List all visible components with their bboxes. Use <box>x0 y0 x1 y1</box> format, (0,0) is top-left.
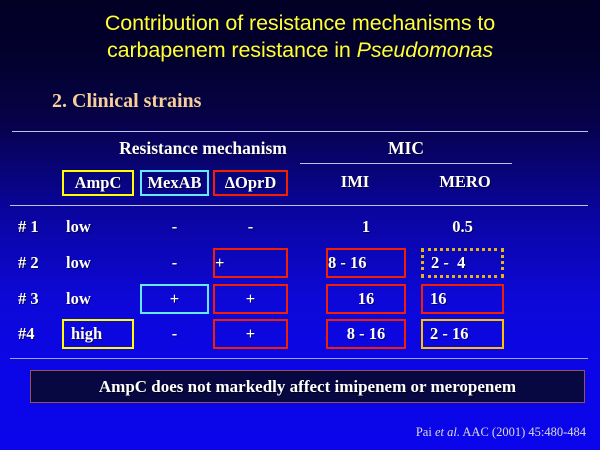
cell-mero-mic: 2 - 4 <box>421 248 504 278</box>
cell-ampc: high <box>62 319 134 349</box>
cell-imi-mic: 16 <box>326 284 406 314</box>
slide-title: Contribution of resistance mechanisms to… <box>0 10 600 64</box>
slide-title-line-1: Contribution of resistance mechanisms to <box>0 10 600 37</box>
column-group-resistance-mechanism: Resistance mechanism <box>88 138 318 159</box>
divider-top <box>12 131 588 132</box>
slide-title-line-2-text: carbapenem resistance in <box>107 38 357 62</box>
column-header-mero: MERO <box>420 172 510 192</box>
table-row: # 1 low - - 1 0.5 <box>0 212 600 248</box>
divider-header-bottom <box>10 205 588 206</box>
divider-table-bottom <box>10 358 588 359</box>
cell-ampc: low <box>58 248 138 278</box>
slide-canvas: Contribution of resistance mechanisms to… <box>0 0 600 450</box>
conclusion-banner: AmpC does not markedly affect imipenem o… <box>30 370 585 403</box>
table-row: #4 high - + 8 - 16 2 - 16 <box>0 319 600 355</box>
cell-oprd: + <box>213 319 288 349</box>
slide-title-organism: Pseudomonas <box>357 38 493 62</box>
column-header-imi: IMI <box>320 172 390 192</box>
cell-imi-mic: 8 - 16 <box>326 248 406 278</box>
table-row: # 2 low - + 8 - 16 2 - 4 <box>0 248 600 284</box>
cell-mexab: - <box>140 212 209 242</box>
cell-mexab: - <box>140 319 209 349</box>
cell-ampc: low <box>58 212 138 242</box>
citation-reference: AAC (2001) 45:480-484 <box>460 425 586 439</box>
cell-imi-mic: 1 <box>326 212 406 242</box>
cell-imi-mic: 8 - 16 <box>326 319 406 349</box>
row-id: #4 <box>18 319 64 349</box>
cell-oprd: + <box>213 248 288 278</box>
column-header-ampc: AmpC <box>62 170 134 196</box>
column-header-oprd: ΔOprD <box>213 170 288 196</box>
cell-mexab: - <box>140 248 209 278</box>
divider-mic-underline <box>300 163 512 164</box>
cell-mero-mic: 2 - 16 <box>421 319 504 349</box>
citation-author: Pai <box>416 425 435 439</box>
section-heading: 2. Clinical strains <box>52 90 201 113</box>
citation: Pai et al. AAC (2001) 45:480-484 <box>416 425 586 440</box>
cell-mero-mic: 16 <box>421 284 504 314</box>
cell-oprd: + <box>213 284 288 314</box>
cell-oprd: - <box>213 212 288 242</box>
table-row: # 3 low + + 16 16 <box>0 284 600 320</box>
column-header-mexab: MexAB <box>140 170 209 196</box>
cell-mexab: + <box>140 284 209 314</box>
cell-ampc: low <box>58 284 138 314</box>
citation-etal: et al. <box>435 425 460 439</box>
slide-title-line-2: carbapenem resistance in Pseudomonas <box>0 37 600 64</box>
cell-mero-mic: 0.5 <box>421 212 504 242</box>
column-group-mic: MIC <box>300 138 512 159</box>
